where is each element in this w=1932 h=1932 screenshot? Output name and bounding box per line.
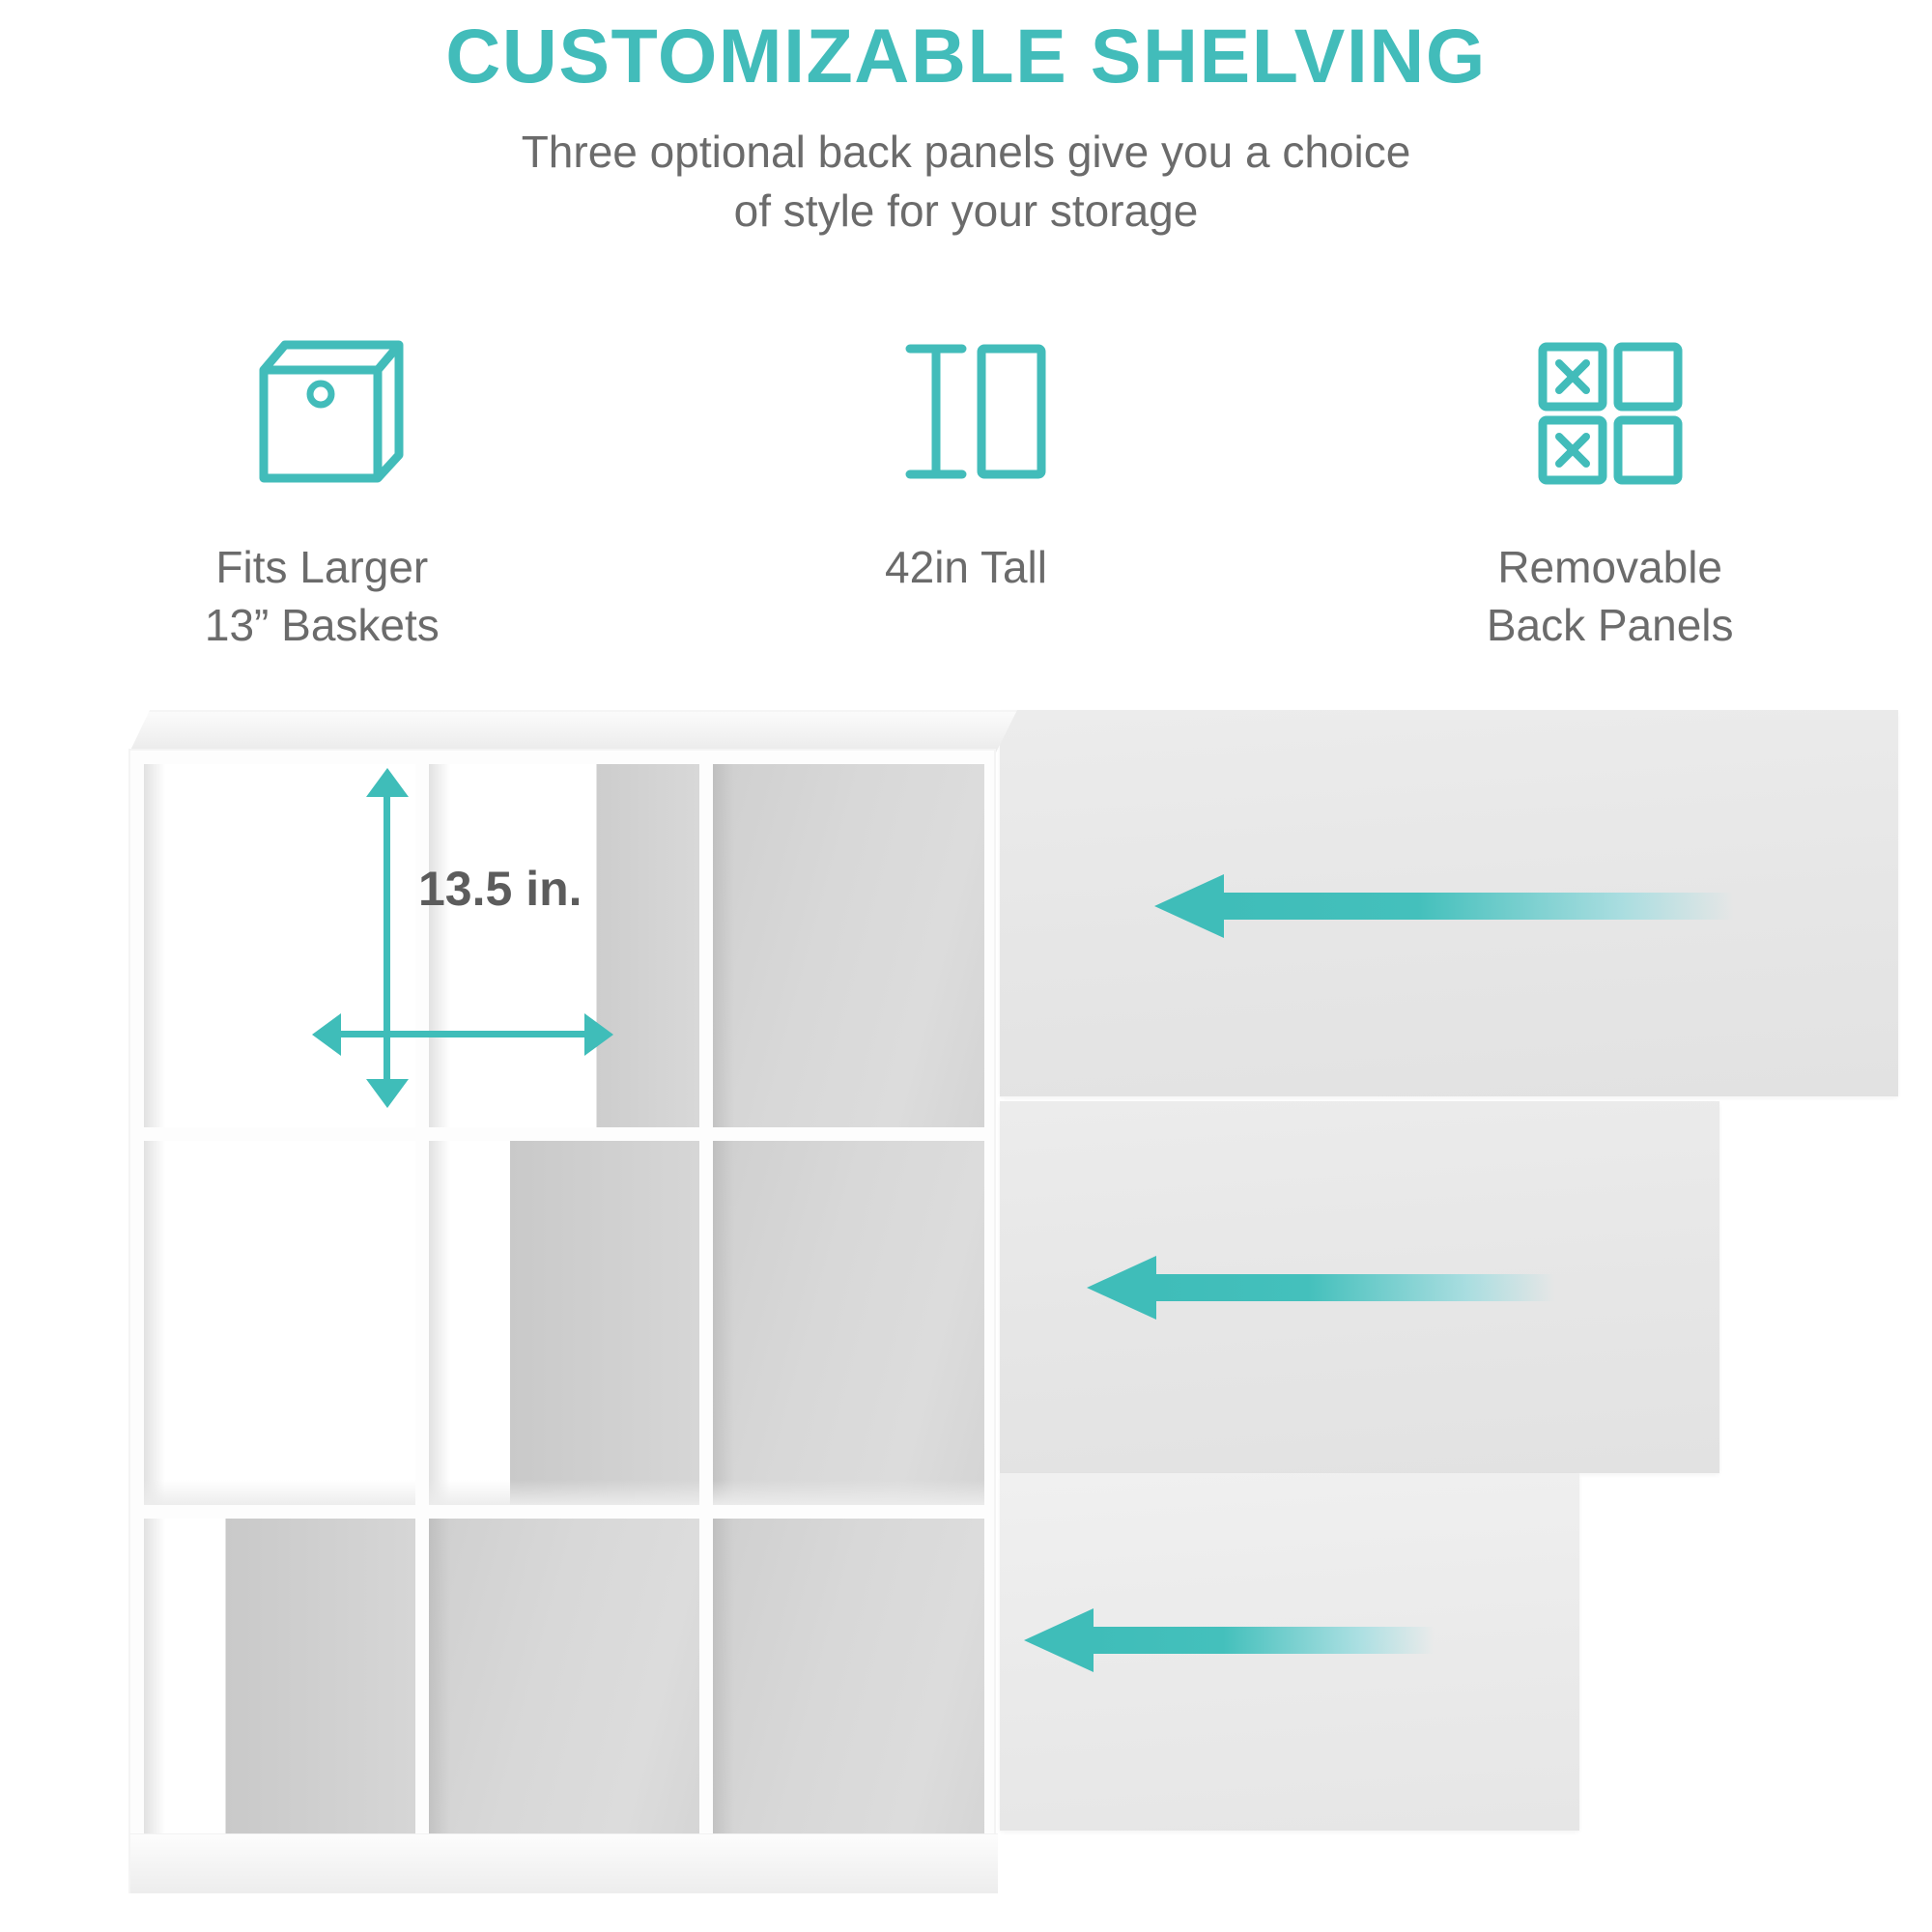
cube-floor-shade bbox=[144, 1480, 415, 1505]
cube-r1c2 bbox=[429, 764, 700, 1127]
page-subtitle: Three optional back panels give you a ch… bbox=[0, 123, 1932, 241]
cube-r1c3 bbox=[713, 764, 984, 1127]
cube-side-shade bbox=[713, 1141, 734, 1504]
infographic-page: CUSTOMIZABLE SHELVING Three optional bac… bbox=[0, 0, 1932, 1932]
storage-basket-cube-icon bbox=[235, 319, 409, 502]
feature-label-2-line-1: 42in Tall bbox=[885, 539, 1047, 597]
cube-back-face bbox=[144, 764, 415, 1127]
feature-label-1-line-2: 13” Baskets bbox=[205, 597, 440, 655]
arrow-left-head-icon bbox=[1024, 1608, 1094, 1672]
page-title: CUSTOMIZABLE SHELVING bbox=[0, 17, 1932, 94]
cube-side-shade bbox=[144, 764, 165, 1127]
subtitle-line-2: of style for your storage bbox=[0, 182, 1932, 241]
cube-back-face bbox=[713, 1141, 984, 1504]
cube-back-face bbox=[429, 1519, 700, 1882]
cube-shelving-unit: 13.5 in. bbox=[128, 710, 1017, 1893]
cube-r3c3 bbox=[713, 1519, 984, 1882]
feature-label-1: Fits Larger 13” Baskets bbox=[205, 539, 440, 655]
cube-back-face bbox=[429, 764, 700, 1127]
cube-r2c2 bbox=[429, 1141, 700, 1504]
feature-42in-tall: 42in Tall bbox=[644, 319, 1289, 655]
shelf-body bbox=[128, 749, 996, 1893]
feature-label-2: 42in Tall bbox=[885, 539, 1047, 597]
panel-slide-arrow-middle bbox=[1087, 1256, 1555, 1320]
header: CUSTOMIZABLE SHELVING Three optional bac… bbox=[0, 17, 1932, 241]
feature-label-3-line-2: Back Panels bbox=[1487, 597, 1734, 655]
cube-side-shade bbox=[429, 1141, 450, 1504]
cube-back-face bbox=[429, 1141, 700, 1504]
cube-side-shade bbox=[144, 1141, 165, 1504]
feature-fits-larger-baskets: Fits Larger 13” Baskets bbox=[0, 319, 644, 655]
product-illustration: 13.5 in. bbox=[0, 715, 1932, 1932]
cube-r2c1 bbox=[144, 1141, 415, 1504]
arrow-left-head-icon bbox=[1087, 1256, 1156, 1320]
feature-removable-back-panels: Removable Back Panels bbox=[1288, 319, 1932, 655]
feature-label-3-line-1: Removable bbox=[1487, 539, 1734, 597]
arrow-shaft bbox=[1224, 893, 1734, 920]
cube-back-face bbox=[144, 1141, 415, 1504]
arrow-shaft bbox=[1156, 1274, 1555, 1301]
cube-back-face bbox=[713, 764, 984, 1127]
cube-floor-shade bbox=[713, 1480, 984, 1505]
cube-side-shade bbox=[144, 1519, 165, 1882]
cube-r3c2 bbox=[429, 1519, 700, 1882]
panel-slide-arrow-bottom bbox=[1024, 1608, 1435, 1672]
cube-floor-shade bbox=[429, 1480, 700, 1505]
arrow-left-head-icon bbox=[1154, 874, 1224, 938]
cube-side-shade bbox=[429, 764, 450, 1127]
feature-row: Fits Larger 13” Baskets 42in Tall bbox=[0, 319, 1932, 655]
cube-side-shade bbox=[713, 764, 734, 1127]
height-measure-icon bbox=[879, 319, 1053, 502]
feature-label-3: Removable Back Panels bbox=[1487, 539, 1734, 655]
subtitle-line-1: Three optional back panels give you a ch… bbox=[0, 123, 1932, 182]
cube-grid bbox=[130, 751, 998, 1895]
arrow-shaft bbox=[1094, 1627, 1435, 1654]
cube-r3c1 bbox=[144, 1519, 415, 1882]
cube-r2c3 bbox=[713, 1141, 984, 1504]
cube-r1c1 bbox=[144, 764, 415, 1127]
cube-back-face bbox=[144, 1519, 415, 1882]
panel-slide-arrow-top bbox=[1154, 874, 1734, 938]
cube-back-face bbox=[713, 1519, 984, 1882]
cube-side-shade bbox=[429, 1519, 450, 1882]
shelf-base bbox=[130, 1833, 998, 1893]
feature-label-1-line-1: Fits Larger bbox=[205, 539, 440, 597]
cube-side-shade bbox=[713, 1519, 734, 1882]
removable-panels-grid-icon bbox=[1523, 319, 1697, 502]
